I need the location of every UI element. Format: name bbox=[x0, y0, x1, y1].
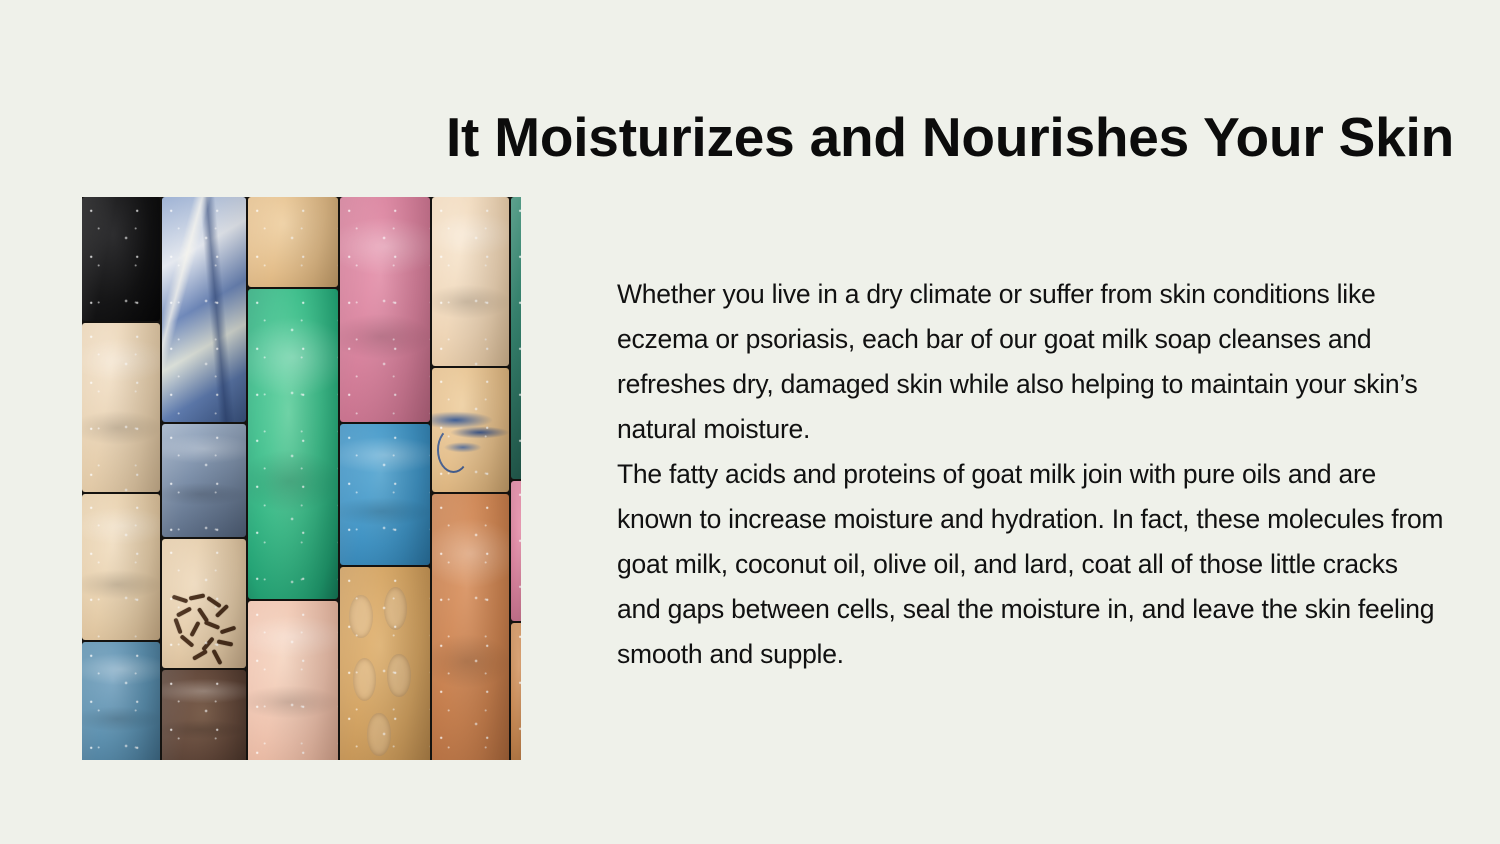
soap-grid bbox=[82, 197, 521, 760]
soap-texture bbox=[248, 289, 338, 599]
soap-texture bbox=[432, 197, 509, 366]
soap-column-5 bbox=[432, 197, 509, 760]
pink-edge-soap-bar bbox=[511, 481, 521, 622]
brown-soap-bar bbox=[162, 670, 246, 760]
soap-texture bbox=[340, 424, 430, 565]
soap-column-6 bbox=[511, 197, 521, 760]
droplet-overlay bbox=[82, 197, 160, 321]
embedded-circles bbox=[340, 567, 430, 760]
blue-grey-soap-bar bbox=[162, 424, 246, 537]
blue-marble-soap-bar bbox=[162, 197, 246, 422]
soap-texture bbox=[248, 601, 338, 760]
soap-column-1 bbox=[82, 197, 160, 760]
blue-bright-soap-bar bbox=[340, 424, 430, 565]
green-soap-bar bbox=[248, 289, 338, 599]
slide-canvas: It Moisturizes and Nourishes Your Skin bbox=[0, 0, 1500, 844]
blue-swirl-pattern bbox=[432, 368, 509, 492]
soap-texture bbox=[340, 197, 430, 422]
terracotta-edge-soap-bar bbox=[511, 623, 521, 760]
charcoal-soap-bar bbox=[82, 197, 160, 321]
tan-soap-bar bbox=[248, 197, 338, 287]
soap-texture bbox=[162, 424, 246, 537]
droplet-overlay bbox=[248, 197, 338, 287]
tan-light-soap-bar bbox=[432, 197, 509, 366]
soap-texture bbox=[82, 642, 160, 760]
droplet-overlay bbox=[511, 623, 521, 760]
pink-soap-bar bbox=[340, 197, 430, 422]
droplet-overlay bbox=[511, 197, 521, 479]
honey-soap-bar bbox=[340, 567, 430, 760]
droplet-overlay bbox=[511, 481, 521, 622]
cream-soap-bar bbox=[82, 323, 160, 492]
lavender-botanical-soap-bar bbox=[162, 539, 246, 668]
soap-texture bbox=[82, 494, 160, 640]
green-dark-soap-bar bbox=[511, 197, 521, 479]
soap-texture bbox=[162, 670, 246, 760]
blue-swirl-soap-bar bbox=[432, 368, 509, 492]
paragraph-2: The fatty acids and proteins of goat mil… bbox=[617, 452, 1447, 677]
pink-pale-soap-bar bbox=[248, 601, 338, 760]
soap-column-2 bbox=[162, 197, 246, 760]
page-title: It Moisturizes and Nourishes Your Skin bbox=[0, 109, 1454, 167]
soap-texture bbox=[82, 323, 160, 492]
body-copy: Whether you live in a dry climate or suf… bbox=[617, 272, 1447, 677]
oat-soap-bar bbox=[82, 494, 160, 640]
soap-column-3 bbox=[248, 197, 338, 760]
soap-photo bbox=[82, 197, 521, 760]
terracotta-soap-bar bbox=[432, 494, 509, 760]
marble-swirl bbox=[162, 197, 246, 422]
paragraph-1: Whether you live in a dry climate or suf… bbox=[617, 272, 1447, 452]
soap-texture bbox=[432, 494, 509, 760]
blue-speckle-soap-bar bbox=[82, 642, 160, 760]
botanical-bits bbox=[166, 593, 244, 663]
soap-column-4 bbox=[340, 197, 430, 760]
